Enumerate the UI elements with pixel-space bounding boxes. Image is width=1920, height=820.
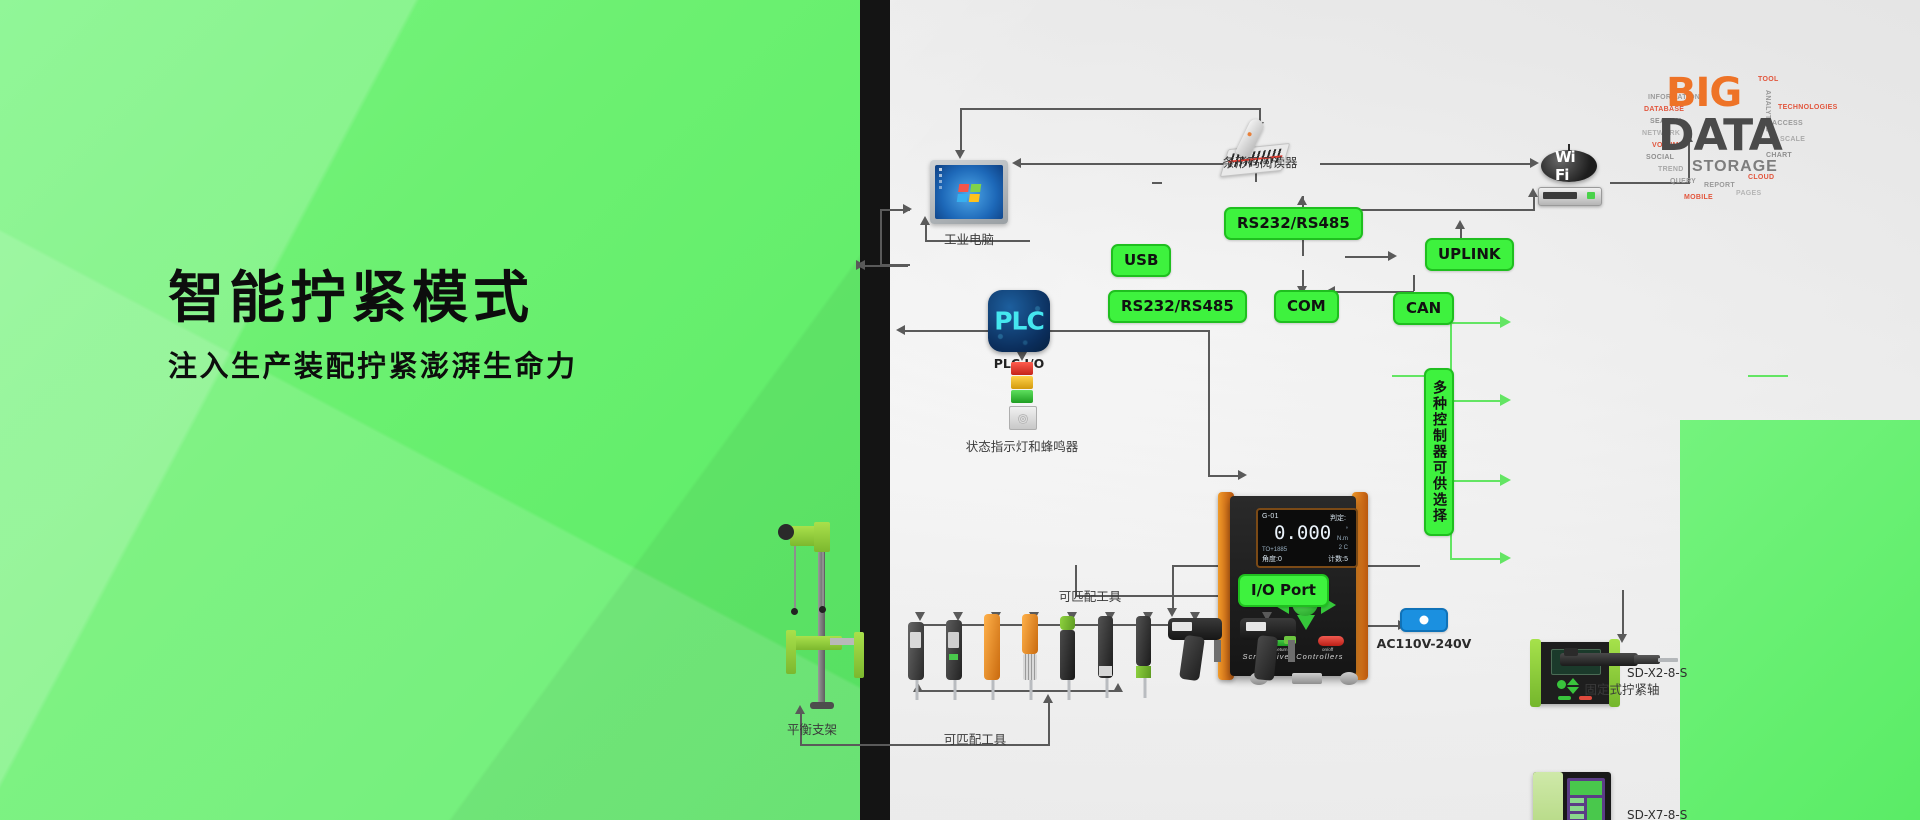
tool-pistol-driver[interactable] (1240, 618, 1298, 698)
arrow-head (1012, 158, 1021, 168)
banner-canvas: 智能拧紧模式 注入生产装配拧紧澎湃生命力 (0, 0, 1920, 820)
tag-rs232-left[interactable]: RS232/RS485 (1108, 290, 1247, 323)
arrow-head (1388, 251, 1397, 261)
tool-screwdriver[interactable] (946, 620, 964, 702)
lcd-angle: 角度:0 (1262, 554, 1282, 564)
green-corner-accent (1680, 420, 1920, 820)
lcd-program-id: G-01 (1262, 513, 1279, 520)
controller-lcd-screen: G-01 判定: 0.000 ° N.m 2 C TO+1885 角度:0 计数… (1256, 508, 1358, 568)
arrow-head (1238, 470, 1247, 480)
controller-model-label: SD-X7-8-S (1627, 807, 1687, 820)
power-button[interactable] (1318, 636, 1344, 646)
green-arrow-head (1500, 394, 1511, 406)
balance-arm-label: 平衡支架 (787, 719, 837, 738)
plc-icon: PLC (988, 290, 1050, 352)
arrow-head (896, 325, 905, 335)
lcd-unit-temp: 2 C (1337, 544, 1348, 553)
connector (960, 108, 1260, 110)
connector (1413, 275, 1415, 291)
wifi-label: Wi Fi (1555, 148, 1583, 184)
monitor-icon (930, 160, 1008, 224)
green-connector (1450, 400, 1504, 402)
connector (1345, 256, 1393, 258)
tag-rs232-top[interactable]: RS232/RS485 (1224, 207, 1363, 240)
stack-light-icon (1009, 362, 1035, 430)
tag-com[interactable]: COM (1274, 290, 1339, 323)
connector (1208, 330, 1210, 475)
arrow-head (915, 612, 925, 621)
compatible-tools-label: 可匹配工具 (1059, 586, 1122, 605)
connector (880, 209, 882, 264)
tag-can[interactable]: CAN (1393, 292, 1454, 325)
connector (1020, 163, 1255, 165)
tool-screwdriver[interactable] (1098, 616, 1116, 700)
balance-arm-icon[interactable] (770, 520, 880, 710)
connector (1172, 565, 1174, 611)
tool-screwdriver-orange[interactable] (984, 614, 1002, 700)
tag-multi-controller[interactable]: 多种控制器可供选择 (1424, 368, 1454, 536)
big-data-storage-word: STORAGE (1692, 158, 1778, 176)
connector (960, 108, 962, 153)
power-label: AC110V-240V (1377, 636, 1472, 651)
stack-light-label: 状态指示灯和蜂鸣器 (966, 436, 1079, 455)
lcd-torque-value: 0.000 (1274, 522, 1331, 544)
tool-pistol-driver[interactable] (1168, 618, 1226, 698)
headline-block: 智能拧紧模式 注入生产装配拧紧澎湃生命力 (168, 268, 578, 385)
lcd-unit-nm: N.m (1337, 535, 1348, 544)
connector (1048, 700, 1050, 745)
connector (900, 330, 1208, 332)
tool-screwdriver-orange[interactable] (1022, 614, 1040, 700)
connector (800, 744, 1050, 746)
green-left-panel (0, 0, 860, 820)
tag-io-port[interactable]: I/O Port (1238, 574, 1329, 607)
lcd-unit-deg: ° (1337, 526, 1348, 535)
lcd-code: TO+1885 (1262, 547, 1287, 553)
controller-sd-x7-8-s-icon (1533, 772, 1611, 820)
arrow-head (955, 150, 965, 159)
tool-screwdriver[interactable] (908, 622, 926, 702)
connector (1533, 195, 1535, 211)
connector (1208, 475, 1242, 477)
connector (860, 265, 906, 267)
industrial-pc-node[interactable] (930, 160, 1008, 224)
arrow-head (903, 204, 912, 214)
tool-screwdriver-green[interactable] (1060, 616, 1078, 700)
arrow-head (1043, 694, 1053, 703)
compatible-tools-label-2: 可匹配工具 (944, 729, 1007, 748)
connector (1622, 590, 1624, 638)
arrow-head (1528, 188, 1538, 197)
barcode-reader-label: 条形码阅读器 (1222, 152, 1297, 171)
green-connector (1748, 375, 1788, 377)
arrow-head (1167, 608, 1177, 617)
fixed-spindle-label: 固定式拧紧轴 (1584, 679, 1659, 698)
tag-usb[interactable]: USB (1111, 244, 1171, 277)
green-arrow-head (1500, 552, 1511, 564)
connector (1320, 163, 1535, 165)
green-connector (1450, 558, 1504, 560)
tool-screwdriver-green[interactable] (1136, 616, 1154, 700)
lcd-count: 计数:5 (1328, 554, 1348, 564)
page-title: 智能拧紧模式 (168, 268, 578, 331)
power-supply-icon[interactable] (1400, 608, 1448, 632)
connector (1152, 182, 1162, 184)
fixed-spindle-icon[interactable] (1560, 648, 1680, 670)
arrow-head (920, 216, 930, 225)
green-arrow-head (1500, 474, 1511, 486)
green-connector (1450, 322, 1504, 324)
green-connector (1450, 480, 1504, 482)
big-data-cloud: INFORMATION DATABASE SEARCH NETWORK VOLU… (1640, 48, 1820, 208)
green-arrow-head (1500, 316, 1511, 328)
plc-node[interactable]: PLC (988, 290, 1050, 352)
arrow-head (856, 260, 865, 270)
stack-light-node[interactable] (1009, 362, 1035, 430)
big-data-data-word: DATA (1658, 110, 1782, 161)
wifi-router-node[interactable]: Wi Fi (1538, 148, 1600, 206)
plc-icon-text: PLC (994, 307, 1044, 336)
arrow-head (1455, 220, 1465, 229)
lcd-judgement-label: 判定: (1330, 513, 1346, 523)
tag-uplink[interactable]: UPLINK (1425, 238, 1514, 271)
controller-model-item[interactable]: SD-X7-8-S (1533, 772, 1920, 820)
dpad-down-button[interactable] (1297, 615, 1315, 630)
wifi-icon: Wi Fi (1538, 148, 1600, 206)
page-subtitle: 注入生产装配拧紧澎湃生命力 (168, 343, 578, 385)
industrial-pc-label: 工业电脑 (944, 229, 994, 248)
